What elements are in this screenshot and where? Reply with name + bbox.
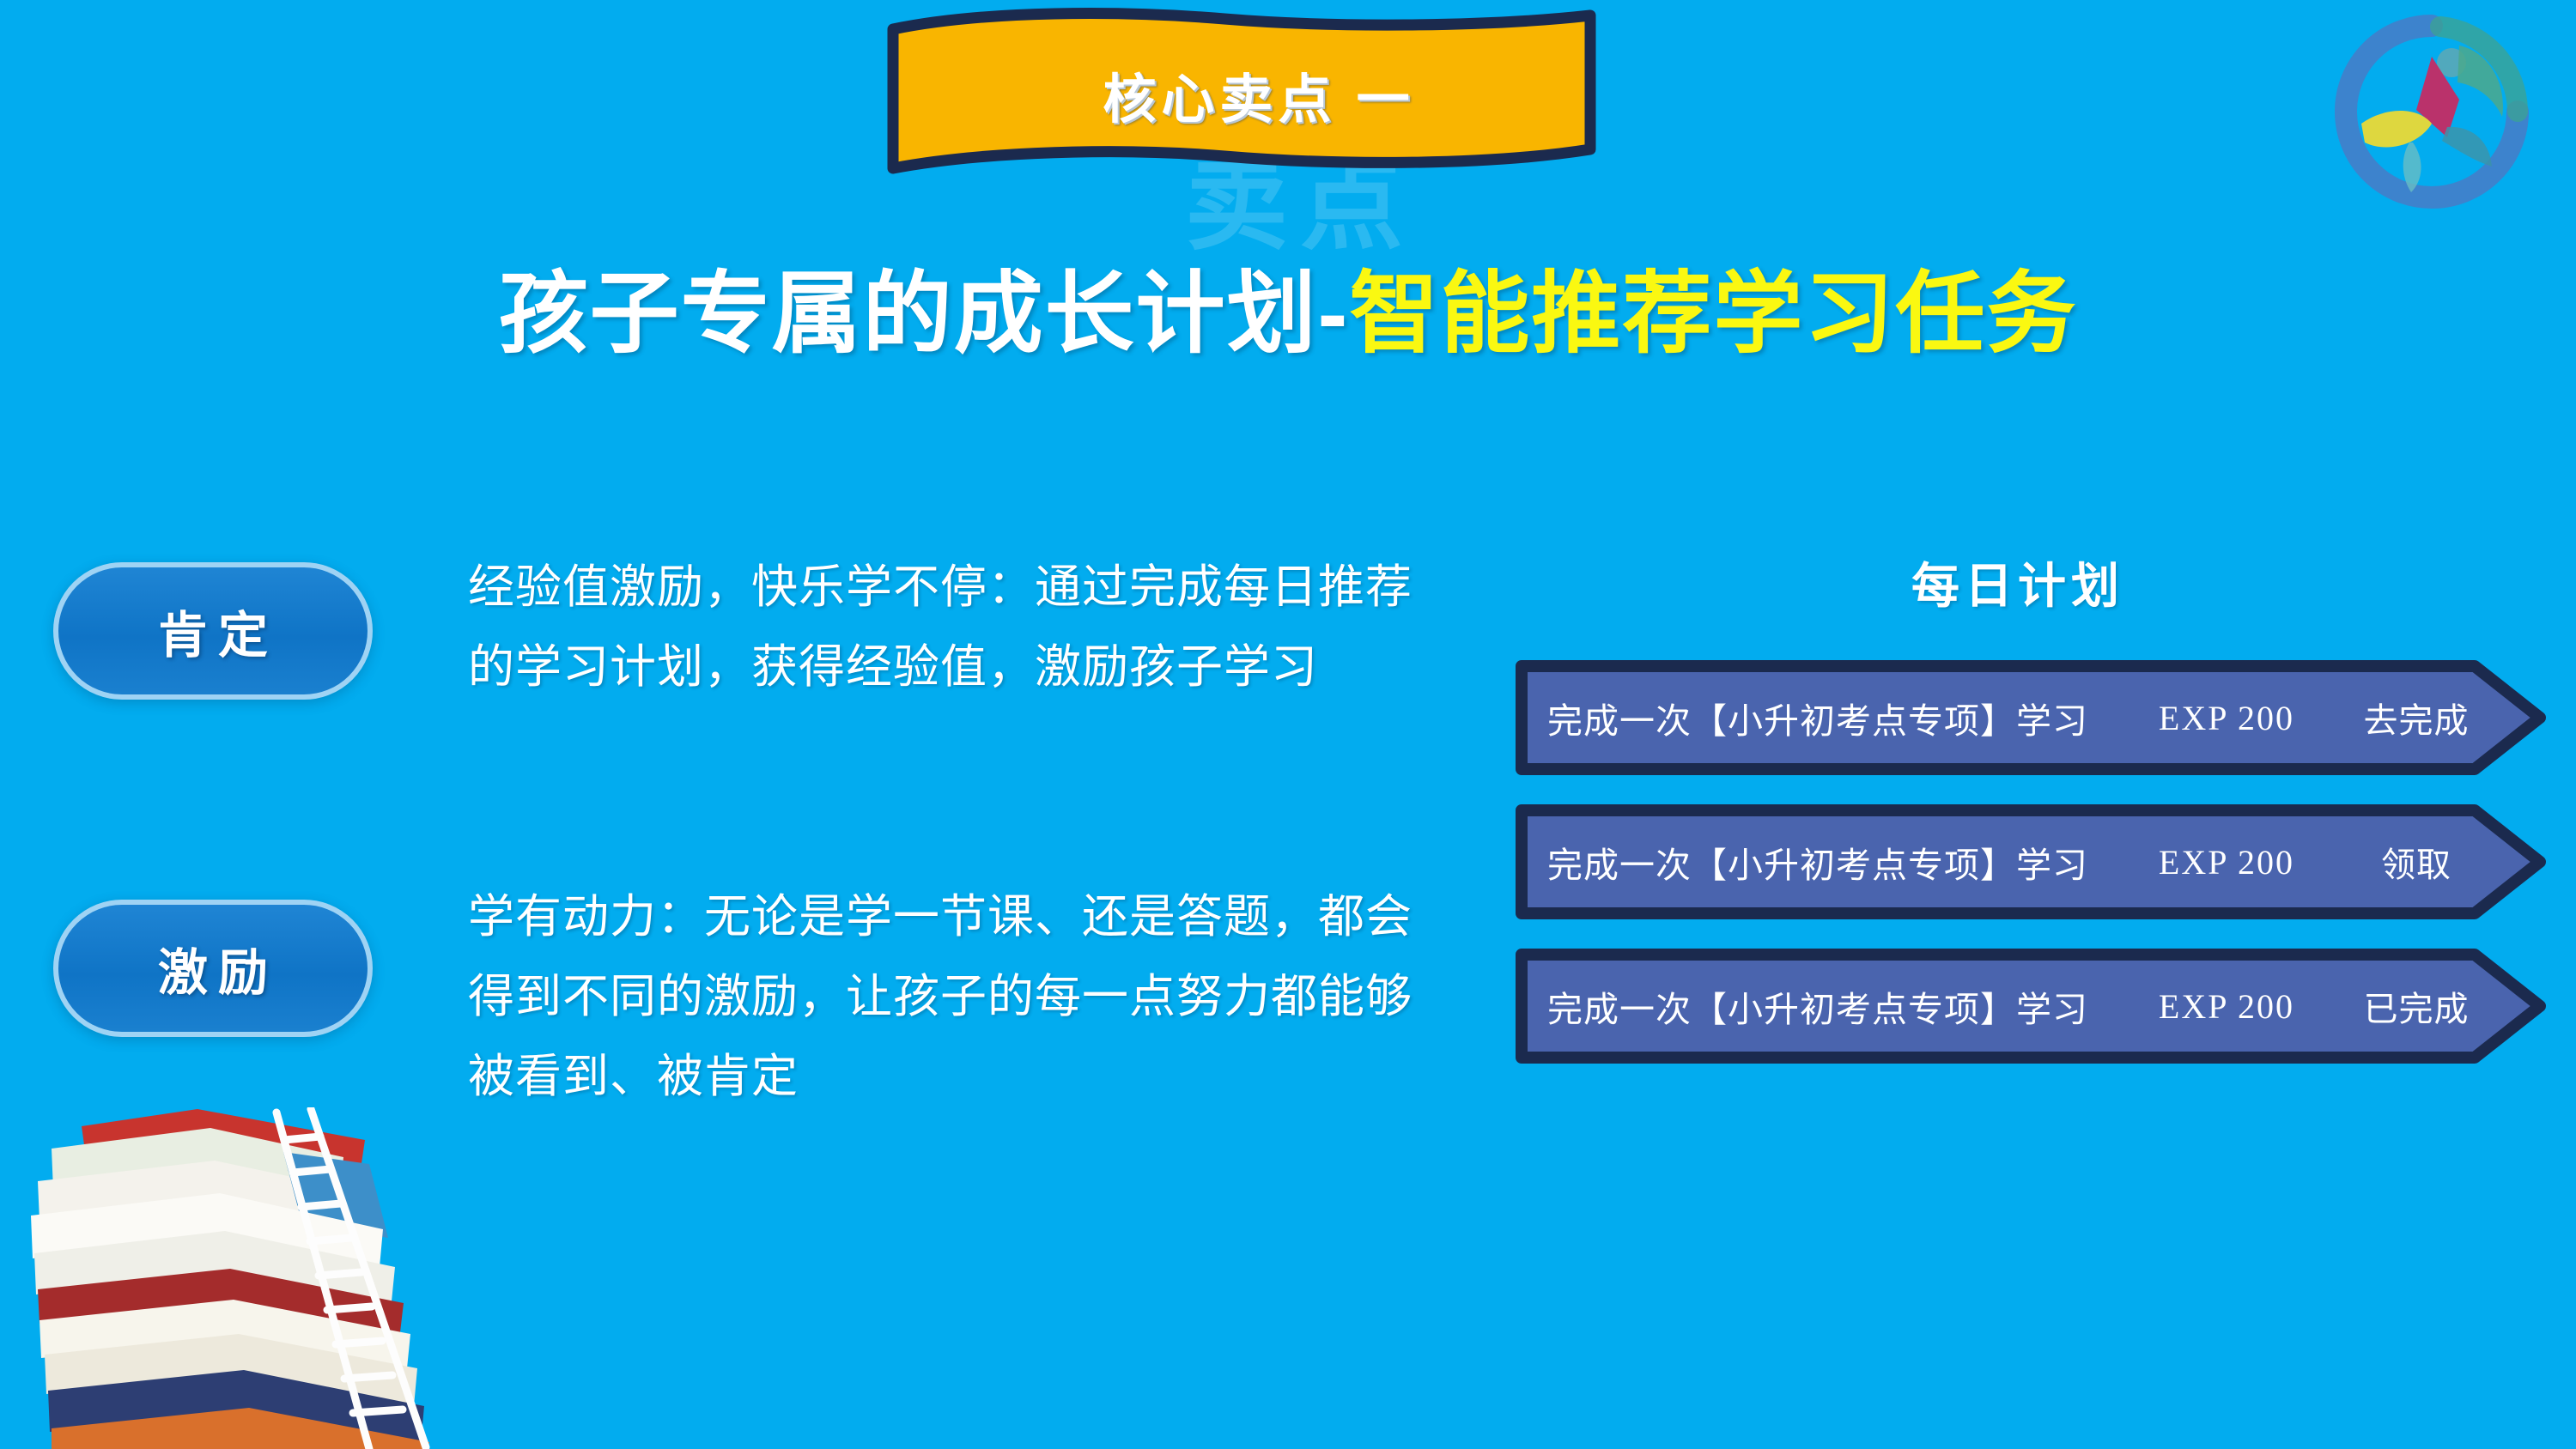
feature-badge-motivate: 激励 [53, 900, 373, 1037]
books-illustration [0, 1107, 532, 1449]
feature-text-motivate: 学有动力：无论是学一节课、还是答题，都会得到不同的激励，让孩子的每一点努力都能够… [468, 877, 1421, 1117]
feature-text-affirm: 经验值激励，快乐学不停：通过完成每日推荐的学习计划，获得经验值，激励孩子学习 [468, 548, 1421, 707]
chevron-shape-icon [1513, 798, 2554, 925]
page-title: 孩子专属的成长计划-智能推荐学习任务 [0, 240, 2576, 370]
feature-badge-affirm: 肯定 [53, 562, 373, 700]
task-row[interactable]: 完成一次【小升初考点专项】学习 EXP 200 领取 [1513, 798, 2554, 925]
daily-plan-title: 每日计划 [1511, 548, 2524, 617]
core-selling-point-banner: 核心卖点 一 [881, 5, 1602, 184]
task-row[interactable]: 完成一次【小升初考点专项】学习 EXP 200 去完成 [1513, 654, 2554, 781]
chevron-shape-icon [1513, 943, 2554, 1070]
page-title-white: 孩子专属的成长计划- [499, 264, 1350, 364]
daily-plan-task-list: 完成一次【小升初考点专项】学习 EXP 200 去完成 完成一次【小升初考点专项… [1513, 654, 2554, 1087]
task-row[interactable]: 完成一次【小升初考点专项】学习 EXP 200 已完成 [1513, 943, 2554, 1070]
stack-of-books-with-ladder-icon [0, 1107, 532, 1449]
chevron-shape-icon [1513, 654, 2554, 781]
page-title-yellow: 智能推荐学习任务 [1349, 264, 2077, 364]
circular-figure-logo-icon [2312, 7, 2552, 221]
slide-canvas: 卖点 核心卖点 一 孩子专属的成长计划-智能推荐学习任务 肯定 激励 [0, 0, 2576, 1449]
brand-logo [2312, 7, 2552, 221]
ribbon-shape-icon [881, 5, 1602, 184]
